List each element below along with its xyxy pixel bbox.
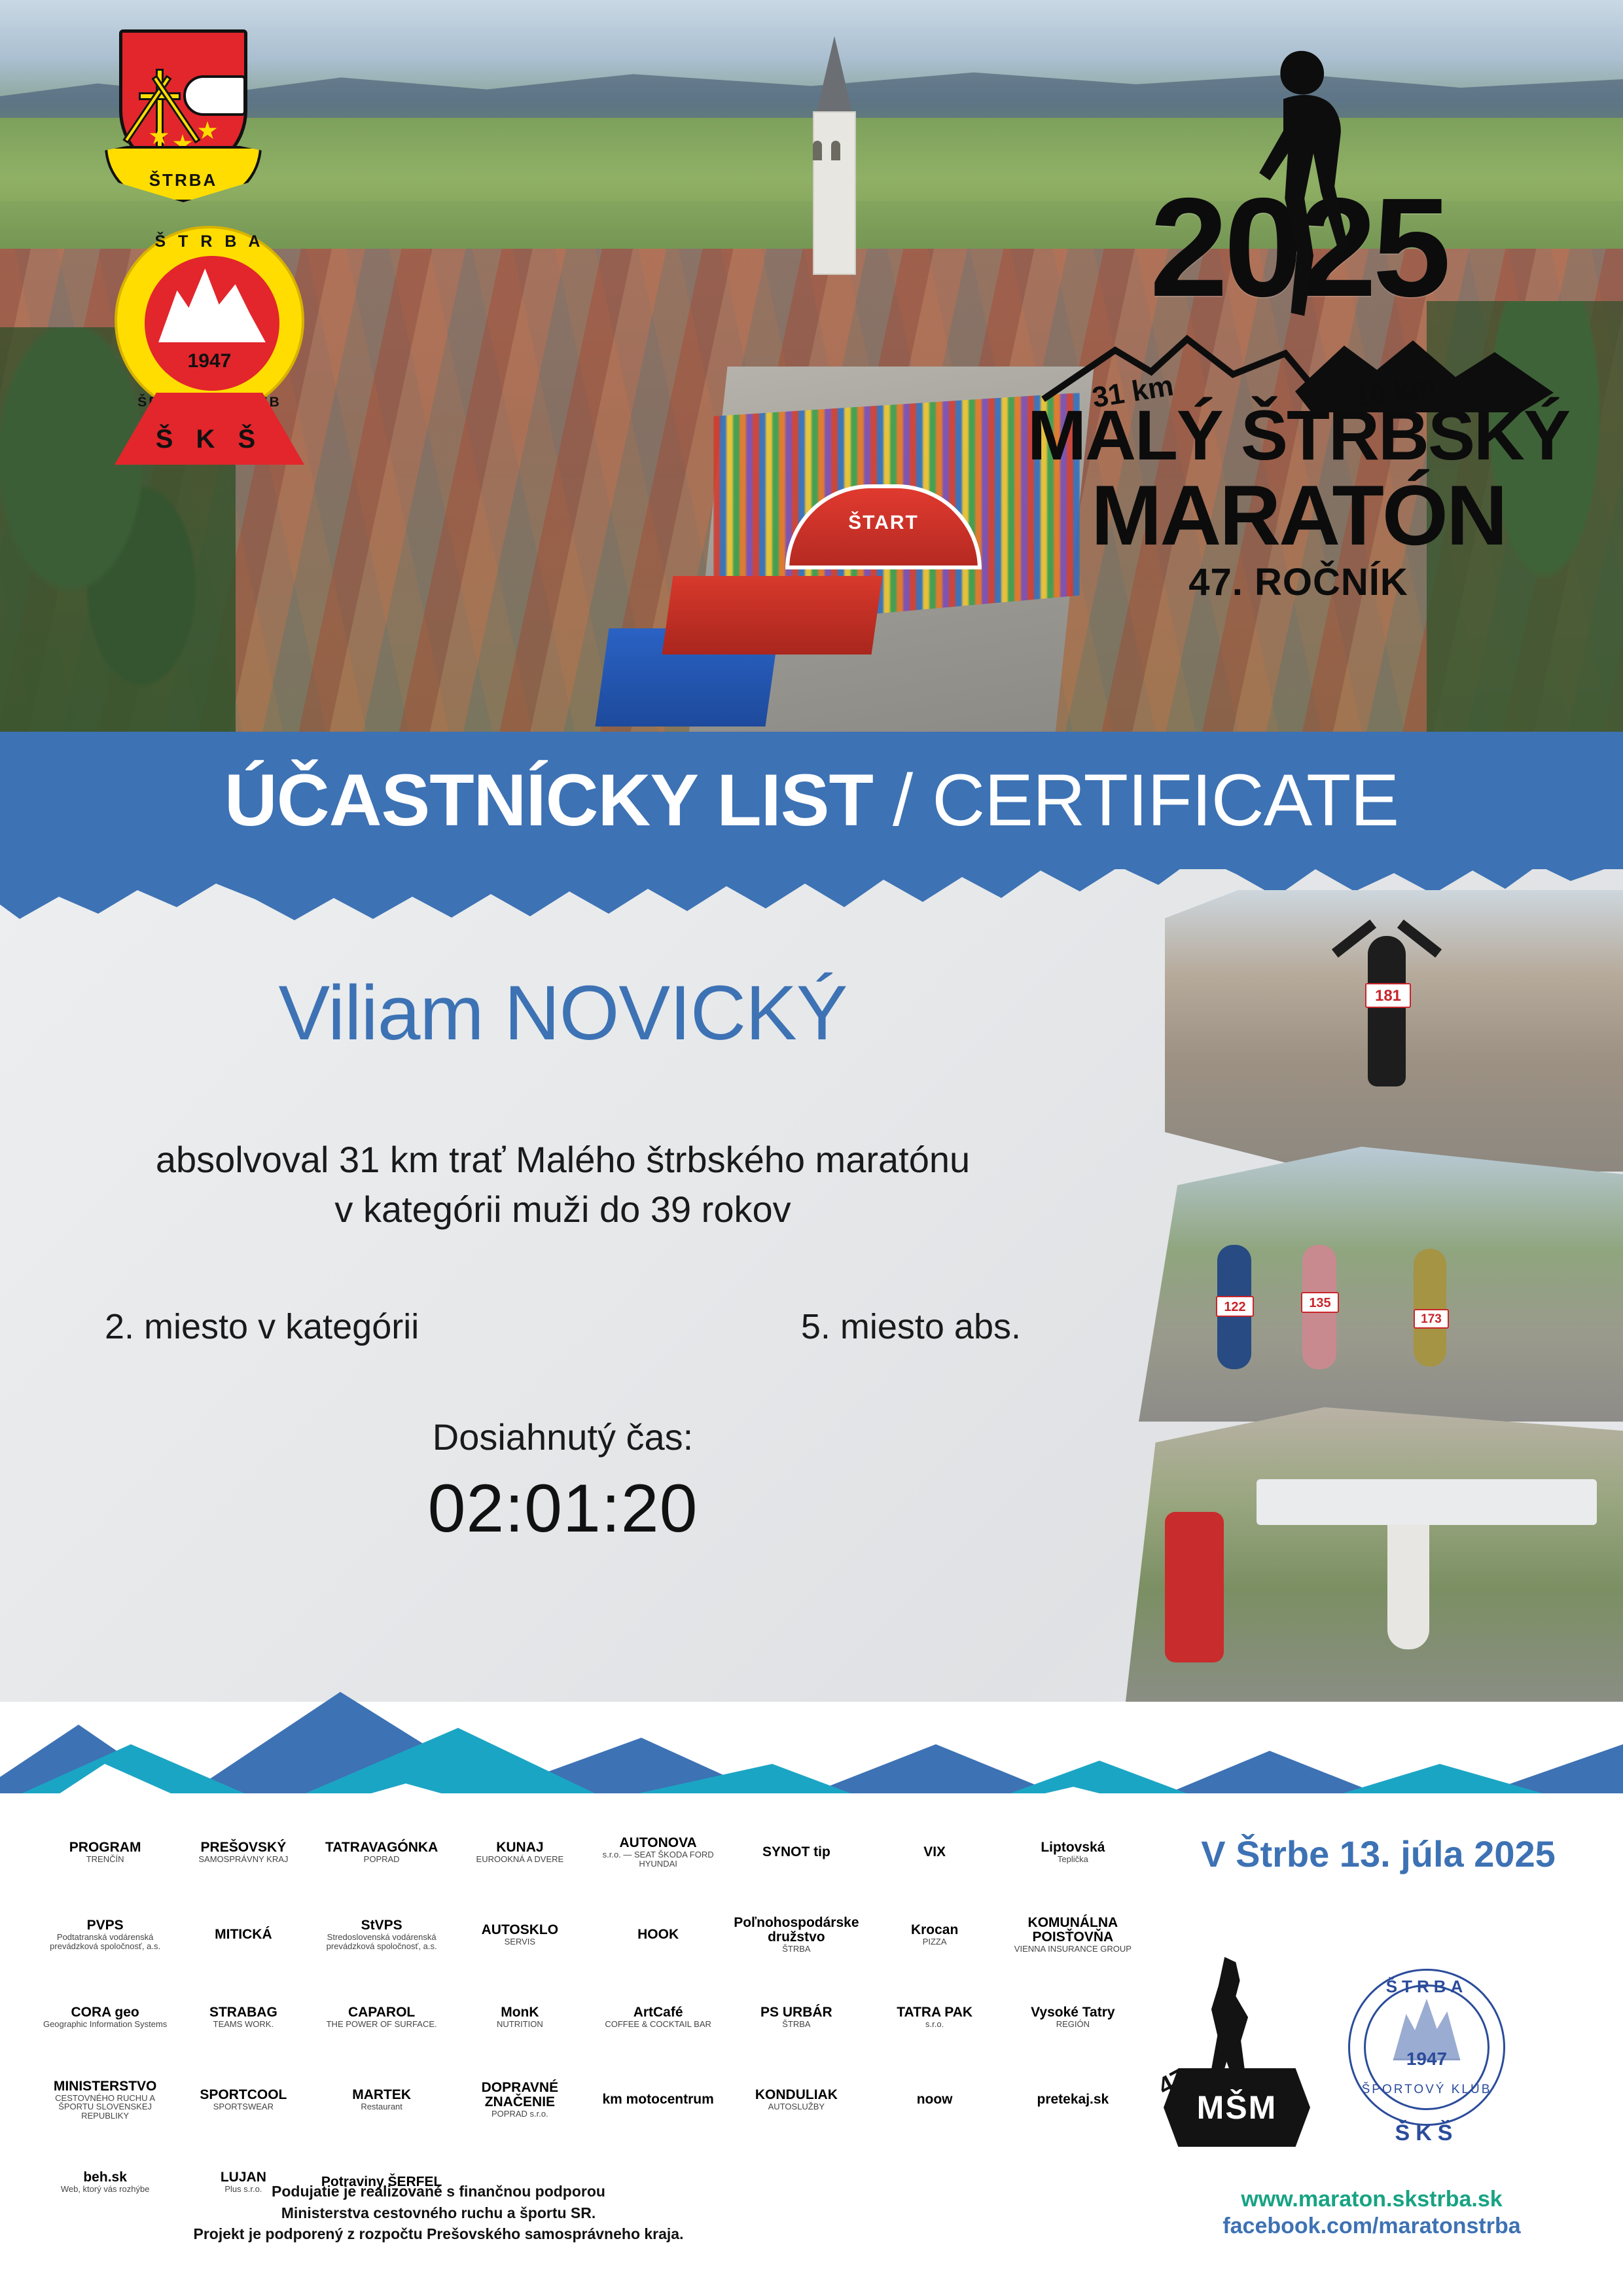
sponsor-sub: s.r.o. (925, 2020, 944, 2029)
event-title-line2: MARATÓN (1010, 473, 1586, 558)
sponsor-logo[interactable]: TATRAVAGÓNKAPOPRAD (325, 1840, 438, 1864)
support-line-1: Podujatie je realizované s finančnou pod… (52, 2181, 825, 2202)
sponsor-logo[interactable]: DOPRAVNÉ ZNAČENIEPOPRAD s.r.o. (454, 2081, 585, 2119)
facebook-link[interactable]: facebook.com/maratonstrba (1162, 2213, 1581, 2240)
sponsor-name: AUTOSKLO (482, 1923, 558, 1937)
sponsor-name: SPORTCOOL (200, 2088, 287, 2102)
sponsor-logo[interactable]: MARTEKRestaurant (352, 2088, 411, 2111)
sks-top-text: Š T R B A (117, 232, 302, 251)
sponsor-name: KOMUNÁLNA POISŤOVŇA (1007, 1916, 1138, 1945)
stamp-year: 1947 (1342, 2049, 1512, 2070)
sponsor-sub: Teplička (1058, 1855, 1088, 1864)
sponsor-sub: COFFEE & COCKTAIL BAR (605, 2020, 711, 2029)
coa-label: ŠTRBA (107, 170, 259, 190)
sponsor-name: noow (917, 2092, 953, 2107)
sponsor-name: SYNOT tip (762, 1845, 830, 1859)
sponsor-logo[interactable]: Vysoké TatryREGIÓN (1031, 2005, 1115, 2029)
place-absolute: 5. miesto abs. (801, 1306, 1021, 1347)
sponsor-logo[interactable]: StVPSStredoslovenská vodárenská prevádzk… (316, 1918, 447, 1950)
sponsor-sub: s.r.o. — SEAT ŠKODA FORD HYUNDAI (593, 1850, 724, 1868)
sponsor-name: KONDULIAK (755, 2088, 838, 2102)
certificate-page: ŠTART ŠTRBA Š T R B A 1947 ŠPORTOVÝ KLUB… (0, 0, 1623, 2296)
sponsor-name: MonK (501, 2005, 539, 2020)
sponsor-footer: V Štrbe 13. júla 2025 PROGRAMTRENČÍN PRE… (0, 1793, 1623, 2296)
stamp-top-text: ŠTRBA (1342, 1977, 1512, 1997)
sponsor-name: MINISTERSTVO (54, 2079, 157, 2094)
sponsor-name: CORA geo (71, 2005, 139, 2020)
sponsor-logo[interactable]: AUTOSKLOSERVIS (482, 1923, 558, 1946)
website-link[interactable]: www.maraton.skstrba.sk (1162, 2186, 1581, 2213)
banner-title-en: CERTIFICATE (932, 759, 1399, 841)
sponsor-logo[interactable]: KONDULIAKAUTOSLUŽBY (755, 2088, 838, 2111)
sponsor-name: HOOK (637, 1928, 679, 1942)
contact-links: www.maraton.skstrba.sk facebook.com/mara… (1162, 2186, 1581, 2240)
photo-finish-line (1126, 1407, 1623, 1702)
photo-road-runners: 122 135 173 (1139, 1147, 1623, 1422)
sponsor-logo[interactable]: KOMUNÁLNA POISŤOVŇAVIENNA INSURANCE GROU… (1007, 1916, 1138, 1954)
event-logo: 2025 31 km 10 km MALÝ ŠTRBSKÝ MARATÓN 47… (1010, 33, 1586, 602)
sponsor-sub: ŠTRBA (782, 1945, 810, 1954)
sponsor-name: km motocentrum (602, 2092, 713, 2107)
sponsor-grid: PROGRAMTRENČÍN PREŠOVSKÝSAMOSPRÁVNY KRAJ… (39, 1813, 1139, 2221)
sponsor-logo[interactable]: KrocanPIZZA (911, 1923, 958, 1946)
sponsor-logo[interactable]: MonKNUTRITION (497, 2005, 543, 2029)
sponsor-logo[interactable]: PREŠOVSKÝSAMOSPRÁVNY KRAJ (198, 1840, 288, 1864)
sponsor-logo[interactable]: CAPAROLTHE POWER OF SURFACE. (327, 2005, 437, 2029)
sks-club-emblem: Š T R B A 1947 ŠPORTOVÝ KLUB (115, 226, 304, 416)
sponsor-name: PROGRAM (69, 1840, 141, 1855)
sponsor-logo[interactable]: AUTONOVAs.r.o. — SEAT ŠKODA FORD HYUNDAI (593, 1836, 724, 1868)
bib-number: 135 (1301, 1292, 1339, 1313)
time-value: 02:01:20 (0, 1470, 1126, 1548)
sponsor-logo[interactable]: noow (917, 2092, 953, 2107)
description-line-1: absolvoval 31 km trať Malého štrbského m… (0, 1135, 1126, 1185)
sponsor-sub: POPRAD (364, 1855, 400, 1864)
bib-number: 173 (1414, 1309, 1449, 1329)
sponsor-name: Liptovská (1041, 1840, 1105, 1855)
sponsor-sub: SERVIS (505, 1937, 535, 1946)
sponsor-sub: Geographic Information Systems (43, 2020, 167, 2029)
sponsor-name: STRABAG (209, 2005, 277, 2020)
sponsor-logo[interactable]: LiptovskáTeplička (1041, 1840, 1105, 1864)
sponsor-sub: Podtatranská vodárenská prevádzková spol… (40, 1933, 171, 1950)
sponsor-name: MARTEK (352, 2088, 411, 2102)
sponsor-sub: TRENČÍN (86, 1855, 124, 1864)
sponsor-name: PREŠOVSKÝ (201, 1840, 287, 1855)
sks-year: 1947 (117, 350, 302, 372)
sponsor-logo[interactable]: VIX (923, 1845, 946, 1859)
sponsor-name: CAPAROL (348, 2005, 415, 2020)
sponsor-sub: THE POWER OF SURFACE. (327, 2020, 437, 2029)
sponsor-name: ArtCafé (633, 2005, 683, 2020)
sponsor-logo[interactable]: TATRA PAKs.r.o. (897, 2005, 972, 2029)
event-date: V Štrbe 13. júla 2025 (1175, 1833, 1581, 1875)
sponsor-sub: POPRAD s.r.o. (491, 2109, 548, 2119)
certificate-content: Viliam NOVICKÝ absolvoval 31 km trať Mal… (0, 870, 1126, 1548)
sponsor-logo[interactable]: SPORTCOOLSPORTSWEAR (200, 2088, 287, 2111)
time-label: Dosiahnutý čas: (0, 1416, 1126, 1458)
sponsor-sub: VIENNA INSURANCE GROUP (1014, 1945, 1132, 1954)
event-title-line1: MALÝ ŠTRBSKÝ (1010, 399, 1586, 471)
sponsor-logo[interactable]: CORA geoGeographic Information Systems (43, 2005, 167, 2029)
sponsor-name: MITICKÁ (215, 1928, 272, 1942)
sponsor-logo[interactable]: PROGRAMTRENČÍN (69, 1840, 141, 1864)
sponsor-name: VIX (923, 1845, 946, 1859)
banner-separator: / (873, 759, 932, 841)
strba-coat-of-arms: ŠTRBA (105, 29, 262, 219)
sponsor-name: Krocan (911, 1923, 958, 1937)
sponsor-name: Vysoké Tatry (1031, 2005, 1115, 2020)
sponsor-logo[interactable]: pretekaj.sk (1037, 2092, 1109, 2107)
sponsor-sub: Stredoslovenská vodárenská prevádzková s… (316, 1933, 447, 1950)
certificate-description: absolvoval 31 km trať Malého štrbského m… (0, 1135, 1126, 1234)
sponsor-name: PS URBÁR (760, 2005, 832, 2020)
stamp-mid-text: ŠPORTOVÝ KLUB (1342, 2083, 1512, 2097)
bib-number: 122 (1216, 1296, 1254, 1317)
sks-abbrev: Š K Š (115, 425, 304, 454)
sponsor-logo[interactable]: PVPSPodtatranská vodárenská prevádzková … (40, 1918, 171, 1950)
sponsor-logo[interactable]: km motocentrum (602, 2092, 713, 2107)
event-edition: 47. ROČNÍK (1010, 560, 1586, 604)
sks-stamp: ŠTRBA 1947 ŠPORTOVÝ KLUB ŠKŠ (1342, 1957, 1512, 2153)
sponsor-logo[interactable]: KUNAJEUROOKNÁ A DVERE (476, 1840, 564, 1864)
sponsor-name: PVPS (87, 1918, 124, 1933)
sponsor-logo[interactable]: PS URBÁRŠTRBA (760, 2005, 832, 2029)
sponsor-sub: AUTOSLUŽBY (768, 2102, 825, 2111)
sponsor-sub: Restaurant (361, 2102, 402, 2111)
support-text: Podujatie je realizované s finančnou pod… (52, 2181, 825, 2245)
support-line-2: Ministerstva cestovného ruchu a športu S… (52, 2202, 825, 2224)
banner-title-sk: ÚČASTNÍCKY LIST (224, 759, 873, 841)
title-banner: ÚČASTNÍCKY LIST / CERTIFICATE (0, 732, 1623, 869)
red-tent (662, 576, 883, 655)
sponsor-name: DOPRAVNÉ ZNAČENIE (454, 2081, 585, 2109)
sponsor-sub: ŠTRBA (782, 2020, 810, 2029)
stamp-bottom-text: ŠKŠ (1342, 2121, 1512, 2146)
sponsor-logo[interactable]: STRABAGTEAMS WORK. (209, 2005, 277, 2029)
sponsor-logo[interactable]: ArtCaféCOFFEE & COCKTAIL BAR (605, 2005, 711, 2029)
church-icon (805, 36, 864, 311)
sponsor-name: Poľnohospodárske družstvo (731, 1916, 862, 1945)
msm-abbrev: MŠM (1164, 2068, 1310, 2147)
sponsor-logo[interactable]: MINISTERSTVOCESTOVNÉHO RUCHU A ŠPORTU SL… (40, 2079, 171, 2121)
sponsor-sub: SAMOSPRÁVNY KRAJ (198, 1855, 288, 1864)
support-line-3: Projekt je podporený z rozpočtu Prešovsk… (52, 2223, 825, 2245)
place-category: 2. miesto v kategórii (105, 1306, 419, 1347)
sponsor-name: KUNAJ (496, 1840, 543, 1855)
sponsor-sub: EUROOKNÁ A DVERE (476, 1855, 564, 1864)
photo-finisher: 181 (1165, 890, 1623, 1172)
sponsor-name: AUTONOVA (620, 1836, 697, 1850)
sponsor-sub: NUTRITION (497, 2020, 543, 2029)
sponsor-name: StVPS (361, 1918, 402, 1933)
sponsor-sub: SPORTSWEAR (213, 2102, 274, 2111)
sponsor-logo[interactable]: SYNOT tip (762, 1845, 830, 1859)
sponsor-name: pretekaj.sk (1037, 2092, 1109, 2107)
sponsor-name: TATRA PAK (897, 2005, 972, 2020)
banner-title: ÚČASTNÍCKY LIST / CERTIFICATE (224, 764, 1399, 837)
sponsor-sub: CESTOVNÉHO RUCHU A ŠPORTU SLOVENSKEJ REP… (40, 2094, 171, 2121)
sponsor-sub: REGIÓN (1056, 2020, 1090, 2029)
sponsor-logo[interactable]: HOOK (637, 1928, 679, 1942)
description-line-2: v kategórii muži do 39 rokov (0, 1185, 1126, 1234)
sponsor-sub: TEAMS WORK. (213, 2020, 274, 2029)
bib-number: 181 (1365, 983, 1411, 1008)
placements: 2. miesto v kategórii 5. miesto abs. (0, 1306, 1126, 1347)
sponsor-sub: PIZZA (923, 1937, 947, 1946)
sponsor-logo[interactable]: Poľnohospodárske družstvoŠTRBA (731, 1916, 862, 1954)
sponsor-name: TATRAVAGÓNKA (325, 1840, 438, 1855)
msm-logo: 47. MŠM (1158, 1957, 1315, 2153)
photo-collage: 181 122 135 173 (1126, 890, 1623, 1702)
participant-name: Viliam NOVICKÝ (0, 969, 1126, 1058)
sponsor-logo[interactable]: MITICKÁ (215, 1928, 272, 1942)
